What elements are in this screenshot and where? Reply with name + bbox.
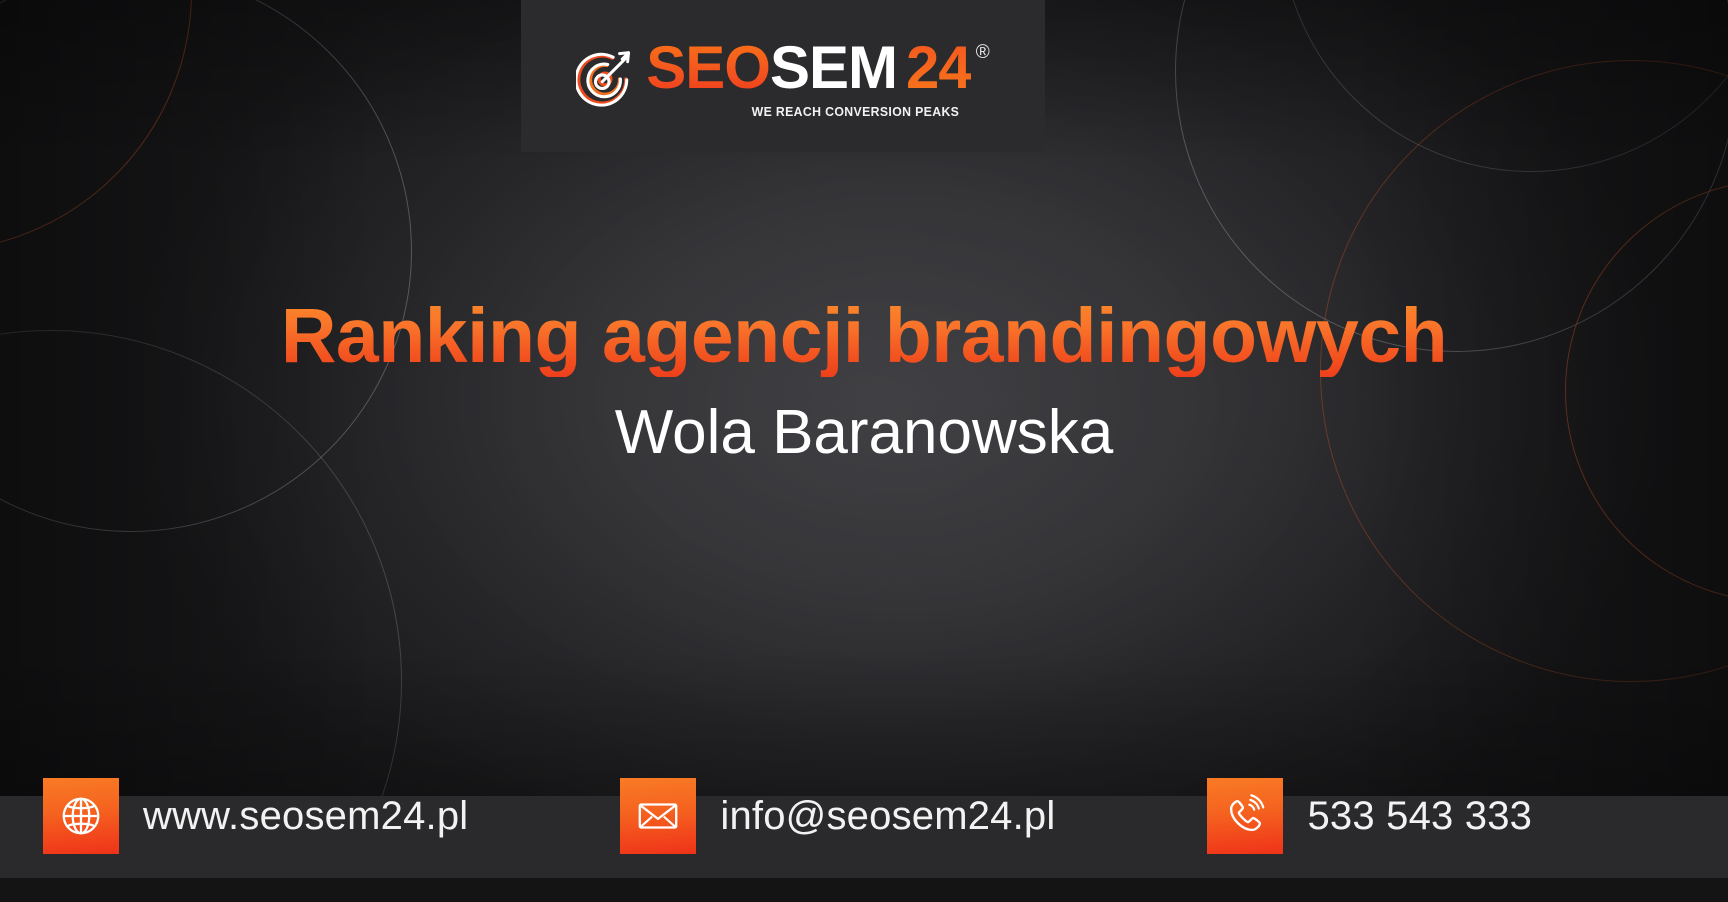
slide-canvas: SEO SEM 24 ® WE REACH CONVERSION PEAKS R…: [0, 0, 1728, 902]
globe-icon: [58, 793, 104, 839]
phone-ringing-icon: [1222, 793, 1268, 839]
phone-label: 533 543 333: [1307, 794, 1532, 839]
envelope-icon: [635, 793, 681, 839]
phone-icon-tile: [1207, 778, 1283, 854]
footer-bottom-bar: [0, 878, 1728, 902]
logo-text-seo: SEO: [646, 38, 770, 98]
website-label: www.seosem24.pl: [143, 794, 468, 839]
logo-text-24: 24: [906, 38, 971, 98]
logo-text-sem: SEM: [770, 38, 897, 98]
page-title: Ranking agencji brandingowych: [0, 296, 1728, 377]
headings-block: Ranking agencji brandingowych Wola Baran…: [0, 296, 1728, 467]
contact-email[interactable]: info@seosem24.pl: [620, 778, 1055, 854]
logo-tagline: WE REACH CONVERSION PEAKS: [751, 104, 959, 119]
logo-panel: SEO SEM 24 ® WE REACH CONVERSION PEAKS: [521, 0, 1045, 152]
globe-icon-tile: [43, 778, 119, 854]
brand-logo[interactable]: SEO SEM 24 ® WE REACH CONVERSION PEAKS: [576, 38, 990, 108]
contact-phone[interactable]: 533 543 333: [1207, 778, 1532, 854]
envelope-icon-tile: [620, 778, 696, 854]
target-arrow-icon: [576, 50, 634, 108]
page-subtitle: Wola Baranowska: [0, 399, 1728, 467]
contact-website[interactable]: www.seosem24.pl: [43, 778, 468, 854]
email-label: info@seosem24.pl: [720, 794, 1055, 839]
registered-trademark-icon: ®: [976, 43, 990, 62]
footer-contact-list: www.seosem24.pl info@seosem24.pl: [0, 774, 1728, 858]
